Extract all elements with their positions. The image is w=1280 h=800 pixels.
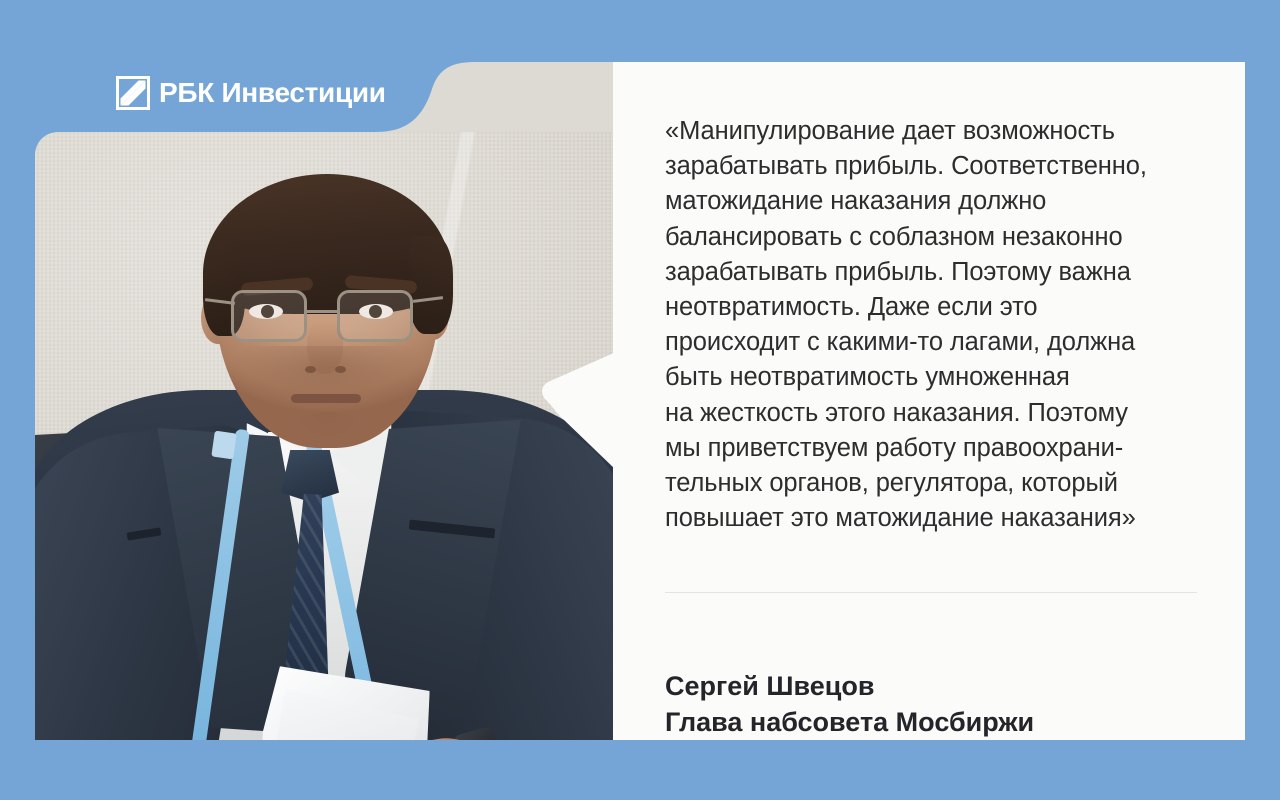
quote-card-canvas: «Манипулирование дает возможность зараба… [0,0,1280,800]
lanyard-badge [211,431,236,460]
portrait-photo [35,62,613,740]
subject-nostril-right [335,366,346,373]
rbk-parallelogram-icon [116,76,150,110]
portrait-photo-panel [35,62,613,740]
rbk-investments-logo[interactable]: РБК Инвестиции [116,76,386,110]
logo-wordmark: РБК Инвестиции [159,76,386,110]
subject-chin [287,412,367,446]
eyeglasses-lens-left [231,290,307,342]
portrait-image-content [35,132,613,740]
eyeglasses-bridge [307,310,337,313]
quote-card: «Манипулирование дает возможность зараба… [613,62,1245,740]
eyeglasses-lens-right [337,290,413,342]
subject-mouth [291,394,361,403]
quote-text: «Манипулирование дает возможность зараба… [665,114,1195,536]
quote-divider [665,592,1197,593]
subject-nostril-left [305,366,316,373]
speech-bubble-tail [540,352,616,470]
attribution-block: Сергей Швецов Глава набсовета Мосбиржи [665,668,1034,740]
